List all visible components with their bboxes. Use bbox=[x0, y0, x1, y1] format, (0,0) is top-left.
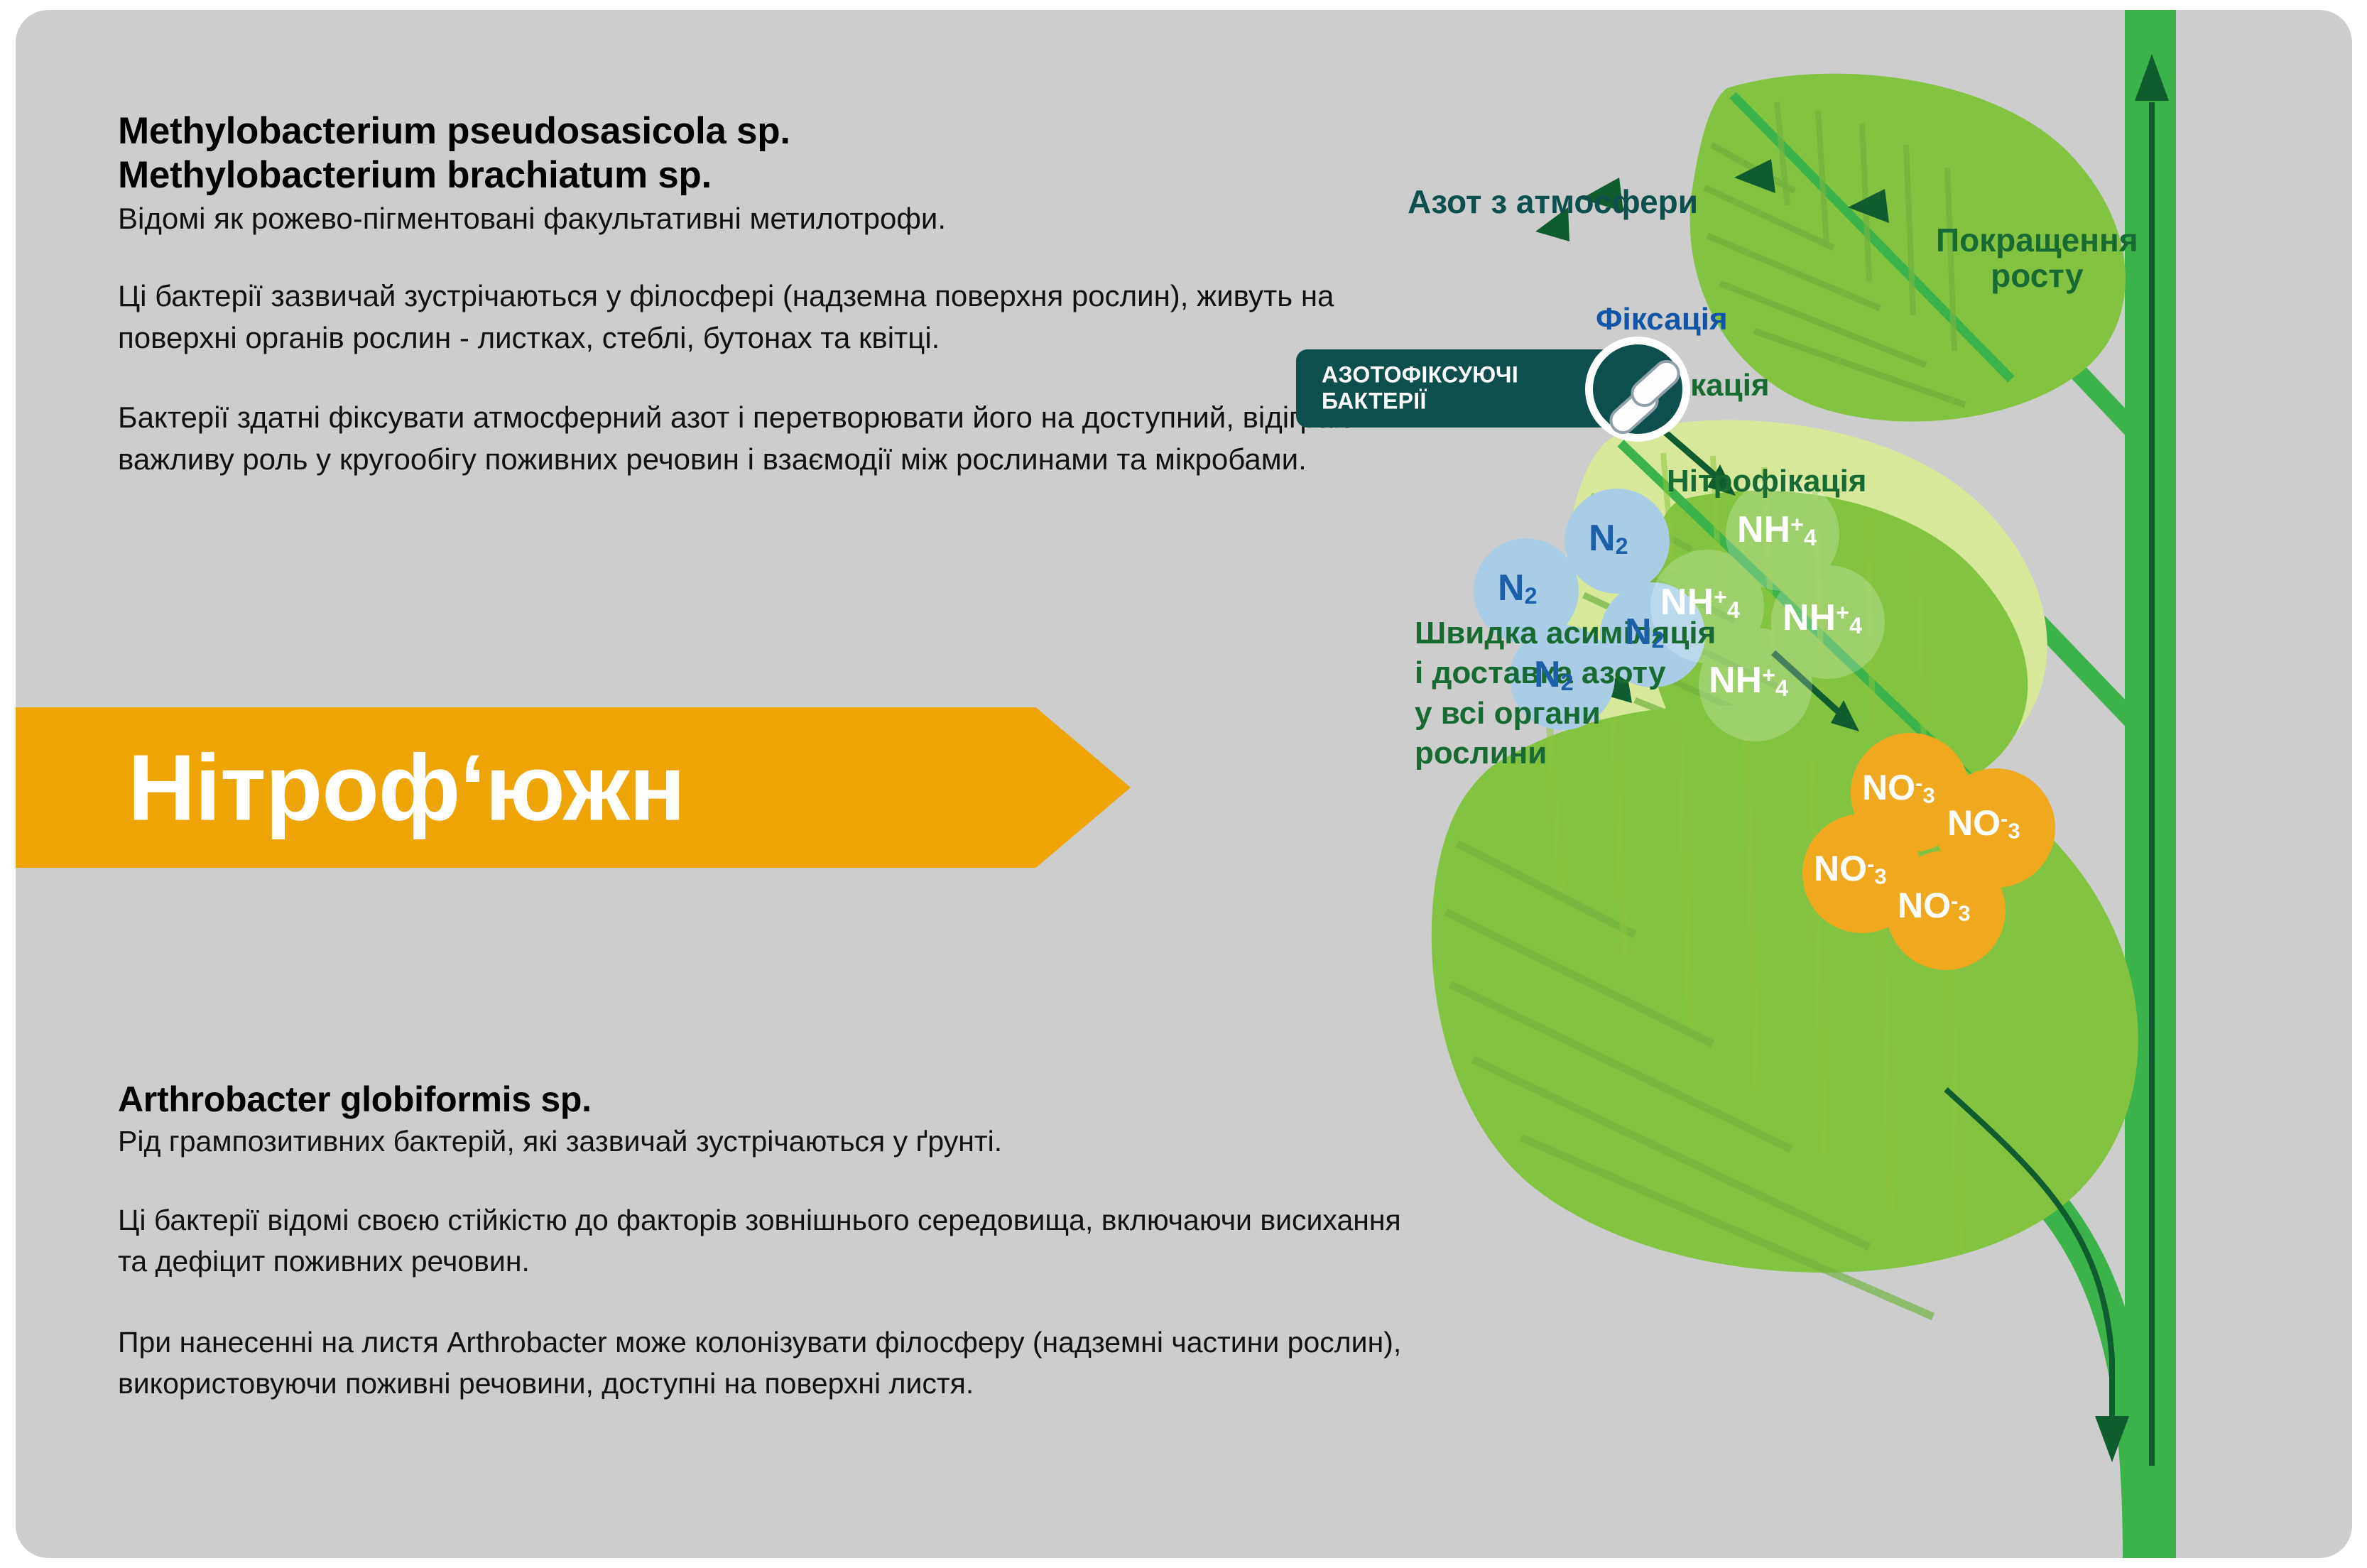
molecule-nh4: NH+4 bbox=[1709, 659, 1788, 702]
label-growth-line-1: Покращення bbox=[1936, 223, 2138, 258]
molecule-n2: N2 bbox=[1589, 517, 1628, 560]
label-nitrification: Нітрофікація bbox=[1667, 464, 1866, 499]
molecule-no3: NO-3 bbox=[1947, 802, 2020, 844]
chip-label-line-2: БАКТЕРІЇ bbox=[1322, 388, 1518, 415]
molecule-n2: N2 bbox=[1534, 653, 1574, 696]
bacteria-icon bbox=[1585, 337, 1690, 442]
molecule-no3: NO-3 bbox=[1814, 848, 1887, 890]
chip-label-line-1: АЗОТОФІКСУЮЧІ bbox=[1322, 362, 1518, 388]
label-fixation: Фіксація bbox=[1596, 303, 1728, 337]
molecule-n2: N2 bbox=[1498, 567, 1538, 609]
molecule-no3: NO-3 bbox=[1862, 767, 1935, 809]
brand-banner: Нітроф‘южн bbox=[16, 707, 1131, 868]
molecule-no3: NO-3 bbox=[1898, 885, 1971, 927]
plant-illustration bbox=[1152, 10, 2352, 1558]
label-growth-improvement: Покращення росту bbox=[1936, 223, 2138, 293]
label-assimilation-line-3: у всі органи bbox=[1415, 694, 1716, 734]
label-assimilation-line-4: рослини bbox=[1415, 734, 1716, 773]
label-growth-line-2: росту bbox=[1936, 258, 2138, 294]
molecule-nh4: NH+4 bbox=[1660, 581, 1740, 624]
molecule-nh4: NH+4 bbox=[1783, 597, 1862, 639]
infographic-card: Methylobacterium pseudosasicola sp. Meth… bbox=[16, 10, 2352, 1558]
molecule-n2: N2 bbox=[1625, 611, 1665, 653]
chip-label: АЗОТОФІКСУЮЧІ БАКТЕРІЇ bbox=[1322, 362, 1518, 415]
brand-name: Нітроф‘южн bbox=[128, 734, 685, 842]
nitrogen-cycle-diagram: Азот з атмосфери Фіксація Покращення рос… bbox=[1152, 10, 2352, 1558]
molecule-nh4: NH+4 bbox=[1737, 508, 1817, 551]
label-atmospheric-nitrogen: Азот з атмосфери bbox=[1408, 185, 1698, 220]
